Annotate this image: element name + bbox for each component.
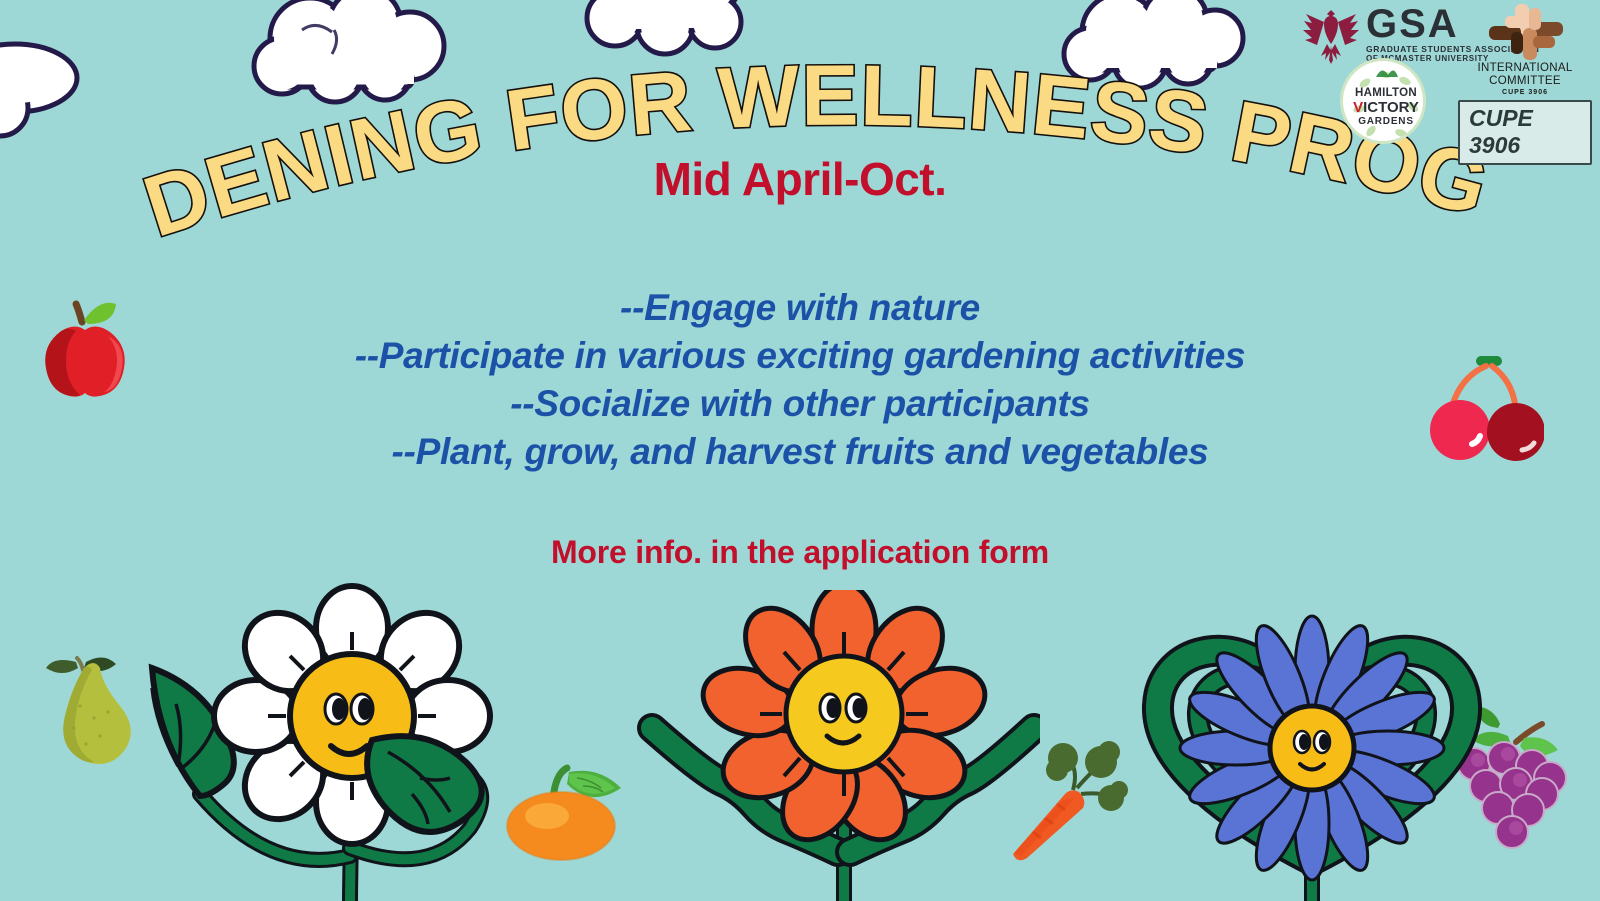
hvg-v-letter: V: [1353, 99, 1363, 116]
more-info-text: More info. in the application form: [0, 534, 1600, 571]
eagle-crest-icon: [1300, 4, 1362, 66]
cherries-icon: [1424, 350, 1544, 465]
subtitle: Mid April-Oct.: [0, 152, 1600, 206]
poster-canvas: GARDENING FOR WELLNESS PROGRAM Mid April…: [0, 0, 1600, 901]
intl-line-2: COMMITTEE: [1462, 75, 1588, 87]
cloud-center-icon: [570, 0, 790, 58]
gsa-logo: GSA GRADUATE STUDENTS ASSOCIATION OF MCM…: [1300, 4, 1480, 66]
white-daisy-flower-icon: [100, 580, 560, 901]
cupe-3906-logo: CUPE 3906: [1458, 100, 1592, 165]
hvg-line-3: GARDENS: [1343, 116, 1426, 127]
intl-line-3: CUPE 3906: [1462, 89, 1588, 96]
cloud-upper-left-icon: [240, 0, 470, 109]
logo-bar: GSA GRADUATE STUDENTS ASSOCIATION OF MCM…: [1292, 2, 1592, 148]
list-item: --Engage with nature: [0, 284, 1600, 332]
hvg-line-2: VICTORY: [1343, 99, 1426, 116]
hamilton-victory-gardens-logo: HAMILTON VICTORY GARDENS: [1340, 58, 1426, 144]
apple-icon: [30, 292, 140, 397]
list-item: --Socialize with other participants: [0, 380, 1600, 428]
benefits-list: --Engage with nature --Participate in va…: [0, 284, 1600, 476]
gsa-letters: GSA: [1366, 4, 1459, 44]
orange-flower-icon: [620, 590, 1040, 901]
cloud-right-icon: [1040, 0, 1260, 102]
list-item: --Plant, grow, and harvest fruits and ve…: [0, 428, 1600, 476]
interlocking-arms-icon: [1487, 2, 1565, 62]
intl-line-1: INTERNATIONAL: [1462, 62, 1588, 74]
cupe-number: 3906: [1469, 132, 1520, 158]
cupe-word: CUPE: [1469, 105, 1533, 131]
international-committee-logo: INTERNATIONAL COMMITTEE CUPE 3906: [1462, 2, 1588, 102]
cloud-left-icon: [0, 30, 130, 140]
blue-flower-in-heart-icon: [1100, 590, 1500, 901]
hvg-line-1: HAMILTON: [1343, 87, 1426, 99]
hvg-ictory: ICTORY: [1363, 99, 1419, 116]
list-item: --Participate in various exciting garden…: [0, 332, 1600, 380]
